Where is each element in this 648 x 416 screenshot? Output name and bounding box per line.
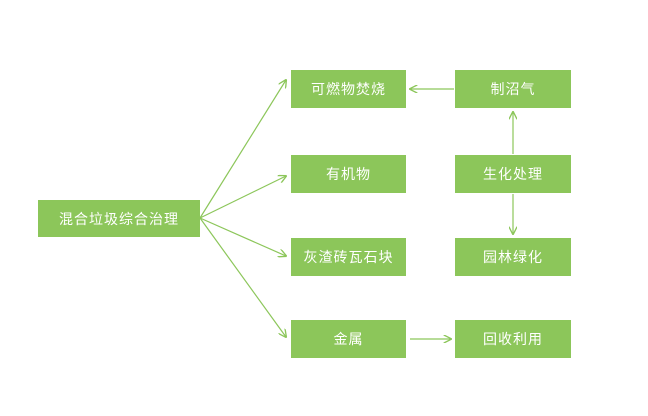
node-organic-matter-label: 有机物 — [326, 167, 371, 181]
node-biochemical-treatment-label: 生化处理 — [483, 167, 543, 181]
node-recycling-reuse-label: 回收利用 — [483, 332, 543, 346]
node-organic-matter[interactable]: 有机物 — [291, 155, 406, 193]
node-ash-brick-tile-stone[interactable]: 灰渣砖瓦石块 — [291, 238, 406, 276]
node-biogas-production[interactable]: 制沼气 — [455, 70, 571, 108]
node-combustible-incineration[interactable]: 可燃物焚烧 — [291, 70, 406, 108]
edge-root-to-burn — [200, 80, 286, 218]
node-biogas-production-label: 制沼气 — [491, 82, 536, 96]
node-ash-brick-tile-stone-label: 灰渣砖瓦石块 — [304, 250, 394, 264]
node-metal[interactable]: 金属 — [291, 320, 406, 358]
node-landscaping[interactable]: 园林绿化 — [455, 238, 571, 276]
node-biochemical-treatment[interactable]: 生化处理 — [455, 155, 571, 193]
node-recycling-reuse[interactable]: 回收利用 — [455, 320, 571, 358]
node-metal-label: 金属 — [334, 332, 364, 346]
edge-root-to-metal — [200, 218, 286, 337]
node-root-label: 混合垃圾综合治理 — [59, 212, 179, 226]
node-root[interactable]: 混合垃圾综合治理 — [38, 200, 200, 237]
node-combustible-incineration-label: 可燃物焚烧 — [311, 82, 386, 96]
edge-root-to-organic — [200, 176, 286, 218]
node-landscaping-label: 园林绿化 — [483, 250, 543, 264]
diagram-canvas: 混合垃圾综合治理 可燃物焚烧 有机物 灰渣砖瓦石块 金属 制沼气 生化处理 园林… — [0, 0, 648, 416]
edge-root-to-ash — [200, 218, 286, 256]
